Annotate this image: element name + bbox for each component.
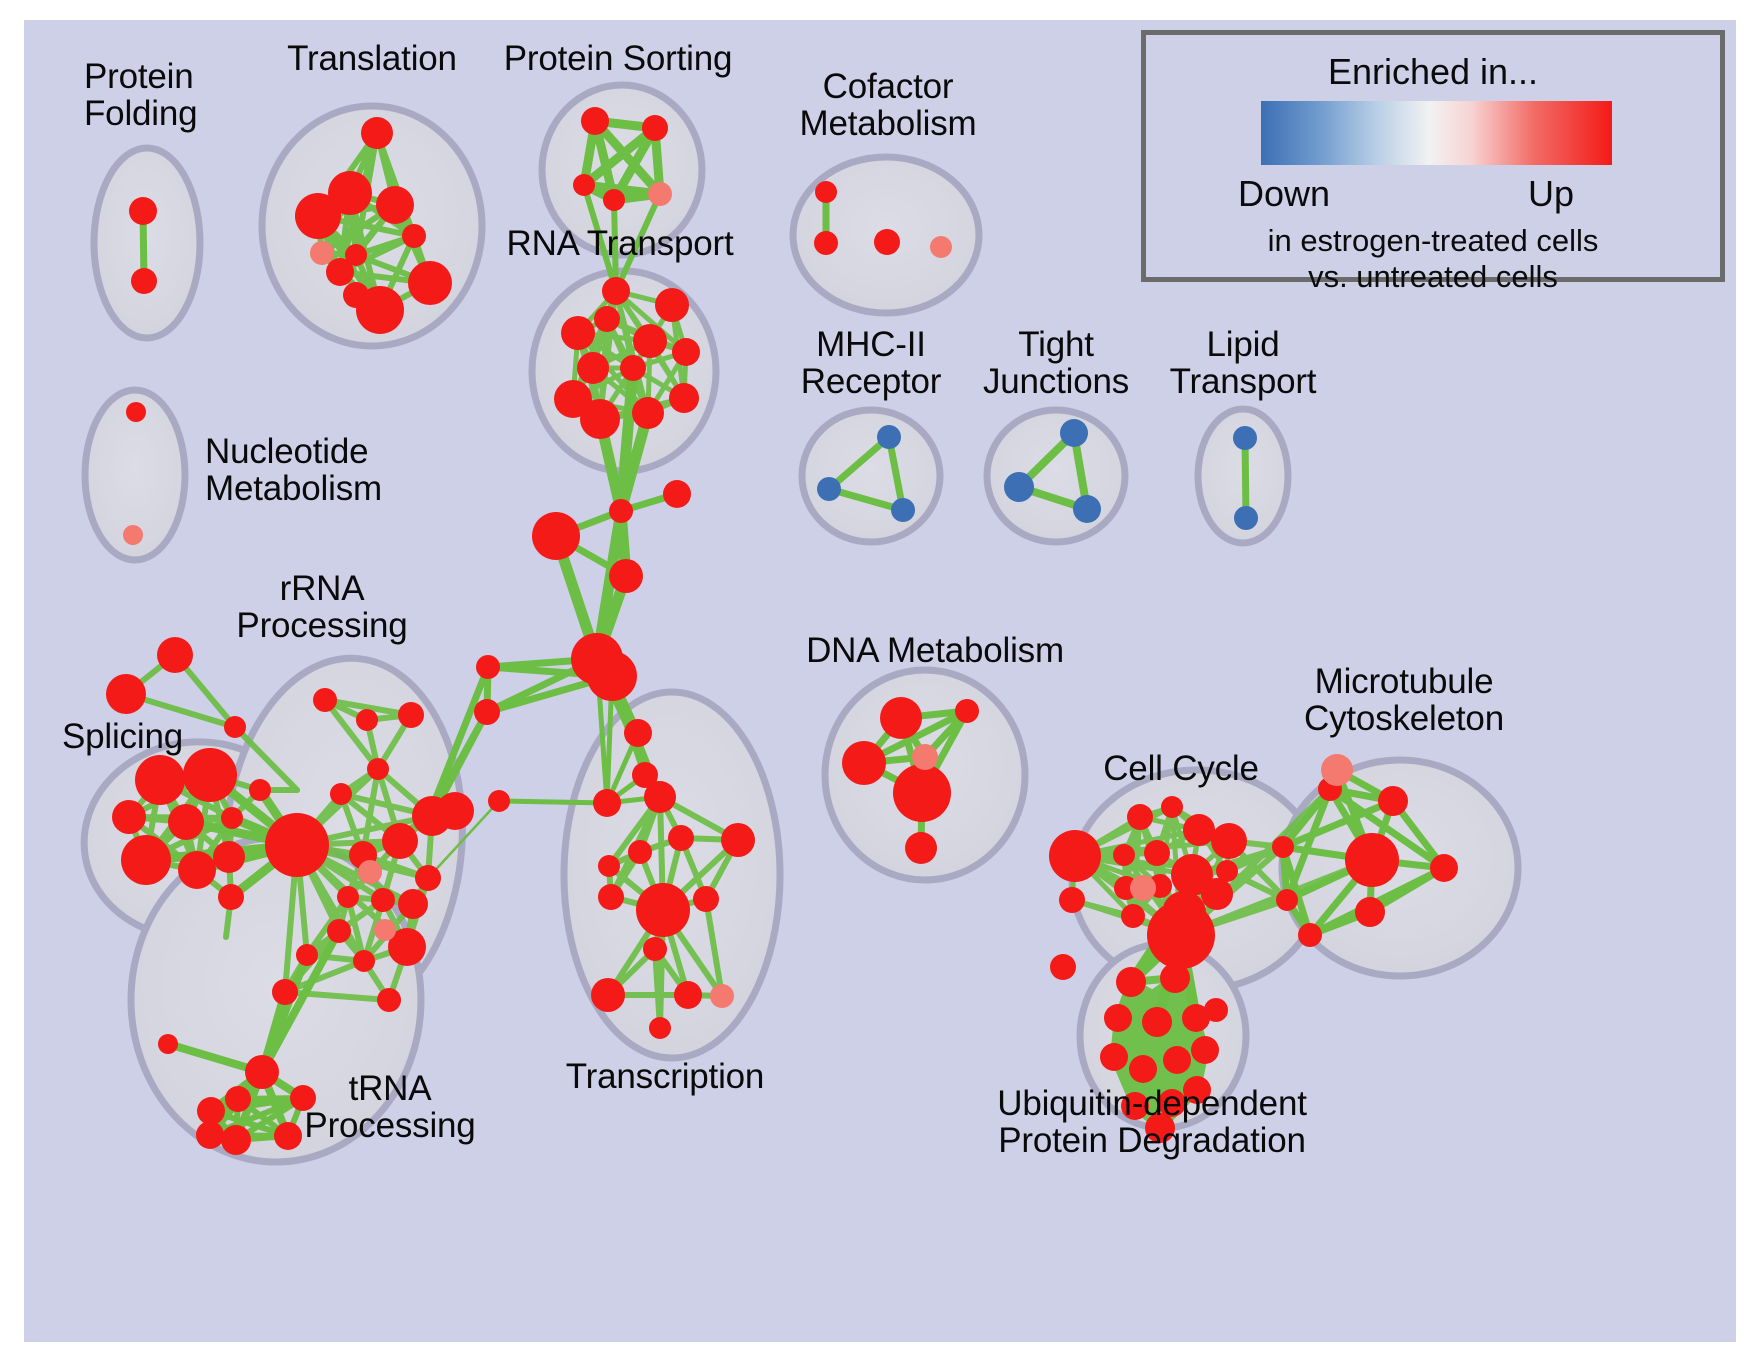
cluster-label-mhc-ii-receptor: MHC-IIReceptor [801, 326, 941, 401]
cluster-label-protein-folding: ProteinFolding [84, 58, 197, 133]
enrichment-map-figure: ProteinFolding Translation Protein Sorti… [0, 0, 1750, 1360]
cluster-label-dna-metabolism: DNA Metabolism [806, 632, 1064, 669]
legend-subtitle-line2: vs. untreated cells [1146, 259, 1720, 295]
cluster-label-nucleotide-metabolism: NucleotideMetabolism [205, 433, 382, 508]
cluster-label-protein-sorting: Protein Sorting [504, 40, 733, 77]
cluster-label-rrna-processing: rRNAProcessing [236, 570, 407, 645]
legend-color-scale [1261, 101, 1612, 165]
hull-protein-folding [94, 148, 200, 338]
cluster-label-trna-processing: tRNAProcessing [304, 1070, 475, 1145]
cluster-label-cofactor-metabolism: CofactorMetabolism [800, 68, 977, 143]
cluster-label-transcription: Transcription [566, 1058, 764, 1095]
cluster-label-tight-junctions: TightJunctions [983, 326, 1129, 401]
cluster-label-lipid-transport: LipidTransport [1170, 326, 1317, 401]
hull-mhc-ii [802, 410, 940, 542]
legend-high-label: Up [1528, 173, 1574, 215]
hull-tight-junctions [987, 410, 1125, 542]
legend-panel: Enriched in... Down Up in estrogen-treat… [1141, 30, 1725, 282]
cluster-label-cell-cycle: Cell Cycle [1103, 750, 1259, 787]
legend-subtitle-line1: in estrogen-treated cells [1146, 223, 1720, 259]
cluster-label-translation: Translation [287, 40, 457, 77]
cluster-label-rna-transport: RNA Transport [507, 225, 734, 262]
legend-low-label: Down [1238, 173, 1330, 215]
cluster-label-ubiquitin-degradation: Ubiquitin-dependentProtein Degradation [997, 1085, 1307, 1160]
cluster-label-microtubule-cytoskeleton: MicrotubuleCytoskeleton [1304, 663, 1504, 738]
legend-title: Enriched in... [1146, 51, 1720, 93]
cluster-label-splicing: Splicing [62, 718, 183, 755]
node-group-cell-cycle-satellites [1050, 954, 1076, 980]
